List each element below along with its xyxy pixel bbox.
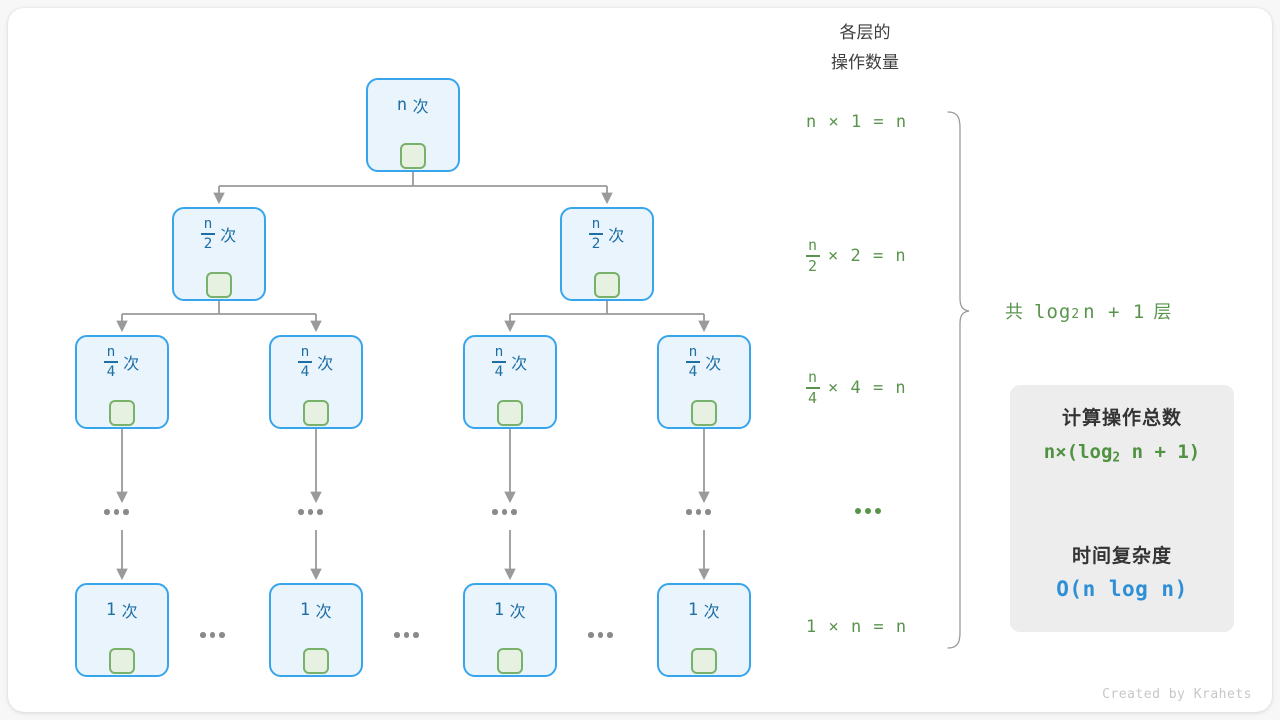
tree-node-level-last-2: 1次 [269,583,363,677]
summary-title-2: 时间复杂度 [1072,541,1172,568]
fraction-numerator: n [494,345,505,361]
operation-block-icon [497,400,523,426]
summary-formula-suffix: n + 1) [1120,441,1200,463]
tree-node-label: n4次 [77,345,167,379]
tree-node-level-3-4: n4次 [657,335,751,429]
credit-text: Created by Krahets [1102,687,1252,702]
tree-node-level-3-2: n4次 [269,335,363,429]
ops-fraction: n2 [806,238,820,274]
tree-node-label: n2次 [562,217,652,251]
summary-formula-prefix: n×(log [1044,441,1113,463]
horizontal-ellipsis-2 [394,632,419,638]
tree-node-level-last-4: 1次 [657,583,751,677]
tree-node-label: n4次 [271,345,361,379]
fraction-numerator: n [203,217,214,233]
fraction-bar [201,233,215,235]
ops-fraction-denominator: 2 [808,259,818,274]
level-ops-ops-2: n2× 2 = n [806,238,907,274]
ops-expression: × 4 = n [828,378,907,398]
fraction-denominator: 4 [300,364,311,380]
loop-arrow-icon [473,381,547,427]
count-value: 1 [106,600,117,620]
vertical-ellipsis-1 [104,509,129,515]
tree-node-level-last-3: 1次 [463,583,557,677]
total-layers-suffix: n + 1 [1083,301,1145,323]
loop-arrow-icon [279,629,353,675]
operation-block-icon [206,272,232,298]
loop-arrow-icon [667,629,741,675]
count-value: 1 [494,600,505,620]
tree-node-level-1-1: n次 [366,78,460,172]
fraction: n2 [589,217,603,252]
ops-fraction-numerator: n [808,238,818,253]
header-title-line2: 操作数量 [800,48,930,78]
ops-expression: 1 × n = n [806,617,907,637]
fraction-bar [298,361,312,363]
fraction-denominator: 2 [591,236,602,252]
tree-node-label: 1次 [659,593,749,627]
total-layers-label: 共 log2 n + 1 层 [1005,298,1172,324]
count-unit: 次 [220,222,237,246]
fraction-numerator: n [591,217,602,233]
tree-node-label: 1次 [465,593,555,627]
operation-block-icon [303,400,329,426]
fraction-numerator: n [106,345,117,361]
count-value: 1 [300,600,311,620]
total-layers-unit: 层 [1153,298,1172,324]
operation-block-icon [109,400,135,426]
fraction-numerator: n [688,345,699,361]
operation-block-icon [400,143,426,169]
header-title: 各层的 操作数量 [800,18,930,78]
summary-complexity: O(n log n) [1056,577,1187,601]
count-unit: 次 [511,350,528,374]
fraction-bar [492,361,506,363]
fraction: n4 [298,345,312,380]
ops-expression: n × 1 = n [806,112,907,132]
fraction: n2 [201,217,215,252]
vertical-ellipsis-3 [492,509,517,515]
summary-formula: n×(log2 n + 1) [1044,441,1201,466]
count-unit: 次 [317,350,334,374]
count-unit: 次 [510,598,527,622]
operation-block-icon [109,648,135,674]
summary-panel: 计算操作总数 n×(log2 n + 1) 时间复杂度 O(n log n) [1010,385,1234,632]
operation-block-icon [594,272,620,298]
operation-block-icon [691,648,717,674]
horizontal-ellipsis-1 [200,632,225,638]
tree-node-level-2-1: n2次 [172,207,266,301]
loop-arrow-icon [182,253,256,299]
tree-node-label: n4次 [465,345,555,379]
fraction-bar [104,361,118,363]
tree-node-level-2-2: n2次 [560,207,654,301]
tree-node-level-last-1: 1次 [75,583,169,677]
tree-node-label: n4次 [659,345,749,379]
ops-fraction: n4 [806,370,820,406]
loop-arrow-icon [667,381,741,427]
level-ops-ops-3: n4× 4 = n [806,370,907,406]
tree-node-label: n次 [368,88,458,122]
count-unit: 次 [705,350,722,374]
count-value: n [397,95,408,115]
count-unit: 次 [608,222,625,246]
count-value: 1 [688,600,699,620]
operation-block-icon [497,648,523,674]
fraction-bar [589,233,603,235]
total-layers-base: 2 [1071,307,1079,322]
summary-formula-base: 2 [1112,451,1120,466]
count-unit: 次 [316,598,333,622]
fraction: n4 [104,345,118,380]
loop-arrow-icon [376,124,450,170]
total-layers-log: log [1034,301,1071,323]
fraction-numerator: n [300,345,311,361]
loop-arrow-icon [85,381,159,427]
operation-block-icon [303,648,329,674]
count-unit: 次 [413,93,430,117]
operation-block-icon [691,400,717,426]
tree-node-label: 1次 [271,593,361,627]
level-ops-ops-last: 1 × n = n [806,617,907,637]
fraction-denominator: 2 [203,236,214,252]
tree-node-label: 1次 [77,593,167,627]
horizontal-ellipsis-3 [588,632,613,638]
count-unit: 次 [122,598,139,622]
count-unit: 次 [704,598,721,622]
tree-node-label: n2次 [174,217,264,251]
tree-node-level-3-3: n4次 [463,335,557,429]
ops-expression: × 2 = n [828,246,907,266]
loop-arrow-icon [85,629,159,675]
ops-fraction-denominator: 4 [808,391,818,406]
total-layers-prefix: 共 [1005,298,1024,324]
vertical-ellipsis-2 [298,509,323,515]
summary-title: 计算操作总数 [1062,403,1182,430]
fraction-bar [686,361,700,363]
loop-arrow-icon [473,629,547,675]
level-ops-ellipsis [855,508,881,514]
fraction: n4 [492,345,506,380]
ops-fraction-numerator: n [808,370,818,385]
loop-arrow-icon [570,253,644,299]
fraction-denominator: 4 [106,364,117,380]
fraction-denominator: 4 [688,364,699,380]
level-ops-ops-1: n × 1 = n [806,112,907,132]
fraction: n4 [686,345,700,380]
tree-node-level-3-1: n4次 [75,335,169,429]
diagram-canvas: 各层的 操作数量 n次n2次n2次n4次n4次n4次n4次1次1次1次1次 n … [0,0,1280,720]
header-title-line1: 各层的 [800,18,930,48]
loop-arrow-icon [279,381,353,427]
count-unit: 次 [123,350,140,374]
fraction-denominator: 4 [494,364,505,380]
vertical-ellipsis-4 [686,509,711,515]
